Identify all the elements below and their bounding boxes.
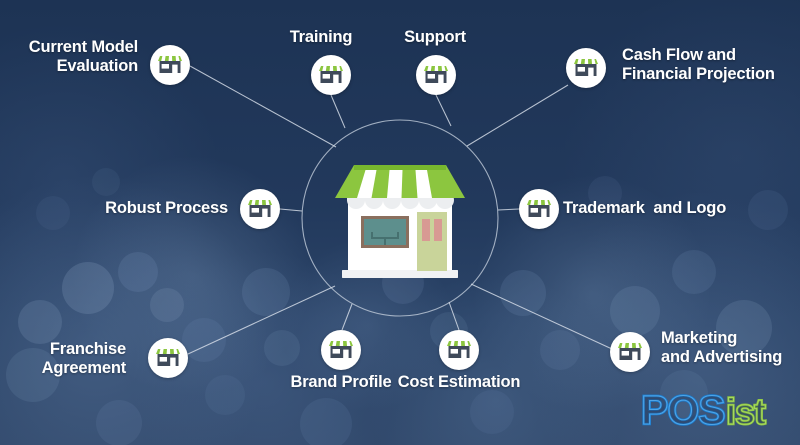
- infographic-canvas: Current Model Evaluation Training Suppor…: [0, 0, 800, 445]
- node-label-support: Support: [385, 28, 485, 47]
- svg-text:POS: POS: [641, 389, 725, 433]
- store-icon-franchise-agreement[interactable]: [148, 338, 188, 378]
- store-icon-robust-process[interactable]: [240, 189, 280, 229]
- store-icon-training[interactable]: [311, 55, 351, 95]
- store-icon-cash-flow[interactable]: [566, 48, 606, 88]
- node-label-robust-process: Robust Process: [60, 199, 228, 218]
- store-icon-support[interactable]: [416, 55, 456, 95]
- node-label-cash-flow: Cash Flow and Financial Projection: [622, 46, 800, 84]
- node-label-marketing-and-advertising: Marketing and Advertising: [661, 329, 800, 367]
- store-icon-marketing-and-advertising[interactable]: [610, 332, 650, 372]
- store-icon-trademark-and-logo[interactable]: [519, 189, 559, 229]
- store-icon-cost-estimation[interactable]: [439, 330, 479, 370]
- store-icon-current-model-evaluation[interactable]: [150, 45, 190, 85]
- node-label-training: Training: [271, 28, 371, 47]
- posist-logo[interactable]: POS POS POS ist ist ist: [640, 389, 786, 437]
- svg-text:ist: ist: [726, 391, 766, 432]
- node-label-trademark-and-logo: Trademark and Logo: [563, 199, 793, 218]
- center-storefront-illustration: [325, 150, 475, 290]
- node-label-franchise-agreement: Franchise Agreement: [0, 340, 126, 378]
- node-label-current-model-evaluation: Current Model Evaluation: [0, 38, 138, 76]
- node-label-cost-estimation: Cost Estimation: [384, 373, 534, 392]
- store-icon-brand-profile[interactable]: [321, 330, 361, 370]
